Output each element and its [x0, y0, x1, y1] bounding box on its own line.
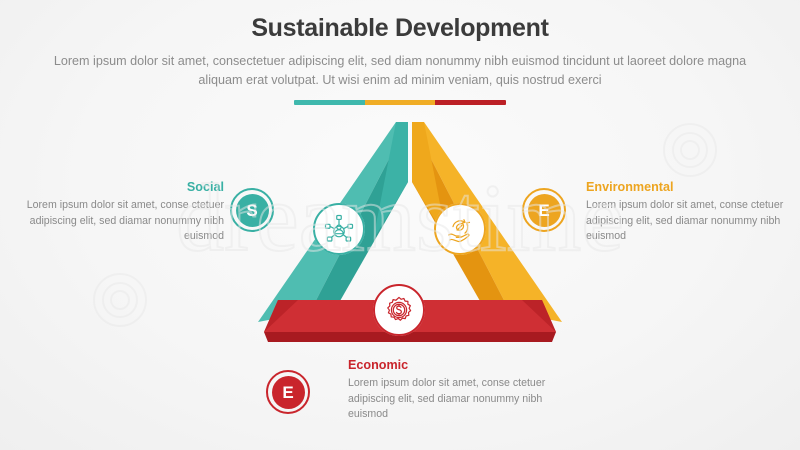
section-environmental: Environmental Lorem ipsum dolor sit amet… — [586, 180, 791, 245]
section-body-environmental: Lorem ipsum dolor sit amet, conse ctetue… — [586, 198, 791, 245]
badge-environmental[interactable]: E — [522, 188, 566, 232]
header: Sustainable Development Lorem ipsum dolo… — [0, 14, 800, 105]
badge-social[interactable]: S — [230, 188, 274, 232]
section-social: Social Lorem ipsum dolor sit amet, conse… — [12, 180, 224, 245]
badge-inner: E — [272, 376, 305, 409]
badge-inner: E — [528, 194, 561, 227]
divider-segment-economic — [435, 100, 506, 105]
hand-holding-leaf-icon — [445, 214, 475, 244]
section-title-economic: Economic — [348, 358, 548, 372]
section-economic: Economic Lorem ipsum dolor sit amet, con… — [348, 358, 548, 423]
economic-icon-disc[interactable] — [373, 284, 425, 336]
environmental-icon-disc[interactable] — [434, 203, 486, 255]
section-title-environmental: Environmental — [586, 180, 791, 194]
social-icon-disc[interactable] — [313, 203, 365, 255]
section-body-social: Lorem ipsum dolor sit amet, conse ctetue… — [12, 198, 224, 245]
people-network-icon — [324, 214, 354, 244]
page-title: Sustainable Development — [0, 14, 800, 43]
gear-dollar-icon — [384, 295, 414, 325]
divider-segment-social — [294, 100, 365, 105]
badge-letter: E — [538, 202, 549, 219]
badge-economic[interactable]: E — [266, 370, 310, 414]
badge-letter: S — [246, 202, 257, 219]
badge-inner: S — [236, 194, 269, 227]
section-title-social: Social — [12, 180, 224, 194]
divider-segment-environmental — [365, 100, 436, 105]
divider — [294, 100, 506, 105]
page-subtitle: Lorem ipsum dolor sit amet, consectetuer… — [50, 52, 750, 91]
section-body-economic: Lorem ipsum dolor sit amet, conse ctetue… — [348, 376, 548, 423]
badge-letter: E — [282, 384, 293, 401]
